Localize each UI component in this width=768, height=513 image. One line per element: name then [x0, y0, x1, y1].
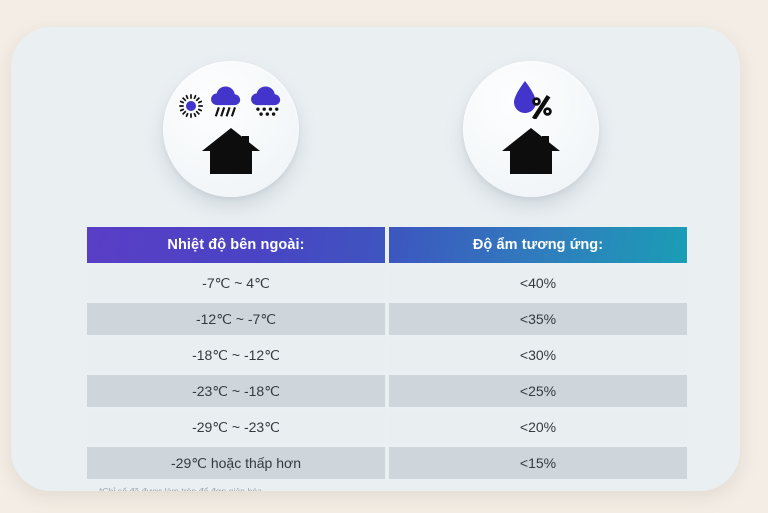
table-row: -12℃ ~ -7℃ <35%: [87, 303, 687, 335]
table-row: -7℃ ~ 4℃ <40%: [87, 267, 687, 299]
table-body: -7℃ ~ 4℃ <40% -12℃ ~ -7℃ <35% -18℃ ~ -12…: [87, 267, 687, 479]
cell-temperature: -7℃ ~ 4℃: [87, 267, 385, 299]
temperature-humidity-table: Nhiệt độ bên ngoài: Độ ẩm tương ứng: -7℃…: [87, 227, 687, 483]
snow-cloud-icon: [248, 85, 284, 124]
table-row: -29℃ hoặc thấp hơn <15%: [87, 447, 687, 479]
info-card: Nhiệt độ bên ngoài: Độ ẩm tương ứng: -7℃…: [11, 27, 740, 491]
footnote: *Chỉ số đã được làm tròn để đơn giản hóa…: [99, 486, 265, 491]
table-header-row: Nhiệt độ bên ngoài: Độ ẩm tương ứng:: [87, 227, 687, 263]
header-cell-humidity: Độ ẩm tương ứng:: [389, 227, 687, 263]
sun-icon: [178, 93, 204, 124]
water-drop-percent-icon: [509, 79, 553, 124]
house-icon: [500, 126, 562, 176]
cell-humidity: <35%: [389, 303, 687, 335]
cell-temperature: -18℃ ~ -12℃: [87, 339, 385, 371]
screenshot-root: Nhiệt độ bên ngoài: Độ ẩm tương ứng: -7℃…: [0, 0, 768, 513]
cell-humidity: <20%: [389, 411, 687, 443]
outside-temperature-badge: [163, 61, 299, 197]
cell-humidity: <25%: [389, 375, 687, 407]
cell-temperature: -12℃ ~ -7℃: [87, 303, 385, 335]
humidity-badge: [463, 61, 599, 197]
humidity-icon-group: [509, 82, 553, 124]
header-cell-temperature: Nhiệt độ bên ngoài:: [87, 227, 385, 263]
cell-humidity: <40%: [389, 267, 687, 299]
cell-humidity: <15%: [389, 447, 687, 479]
cell-temperature: -29℃ ~ -23℃: [87, 411, 385, 443]
table-row: -23℃ ~ -18℃ <25%: [87, 375, 687, 407]
cell-humidity: <30%: [389, 339, 687, 371]
house-icon: [200, 126, 262, 176]
table-row: -29℃ ~ -23℃ <20%: [87, 411, 687, 443]
table-row: -18℃ ~ -12℃ <30%: [87, 339, 687, 371]
rain-cloud-icon: [208, 85, 244, 124]
weather-icon-group: [178, 82, 284, 124]
badge-row: [11, 27, 740, 207]
cell-temperature: -23℃ ~ -18℃: [87, 375, 385, 407]
cell-temperature: -29℃ hoặc thấp hơn: [87, 447, 385, 479]
